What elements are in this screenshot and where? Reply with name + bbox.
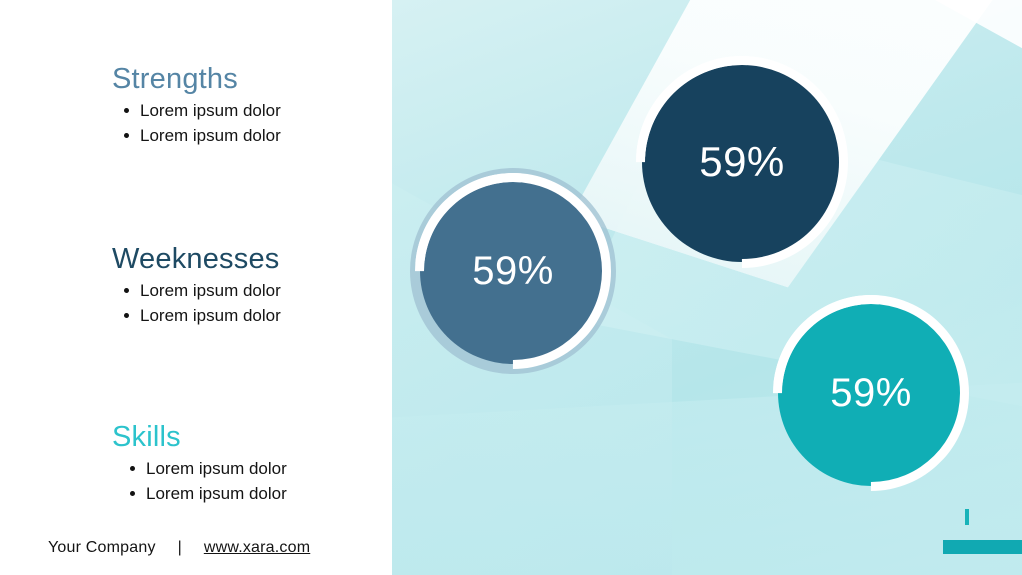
section-skills: Skills Lorem ipsum dolor Lorem ipsum dol… xyxy=(0,422,392,506)
section-weaknesses: Weeknesses Lorem ipsum dolor Lorem ipsum… xyxy=(0,244,392,328)
left-content-panel: Strengths Lorem ipsum dolor Lorem ipsum … xyxy=(0,0,392,575)
section-strengths: Strengths Lorem ipsum dolor Lorem ipsum … xyxy=(0,64,392,148)
gauge-chart-navy: 59% xyxy=(642,62,842,262)
list-item: Lorem ipsum dolor xyxy=(122,123,392,148)
company-name: Your Company xyxy=(48,539,156,557)
section-title-strengths: Strengths xyxy=(0,64,392,96)
list-item: Lorem ipsum dolor xyxy=(122,278,392,303)
slide-footer: Your Company | www.xara.com xyxy=(48,539,310,557)
gauge-chart-steel: 59% xyxy=(420,178,606,364)
gauge-value-steel: 59% xyxy=(420,178,606,364)
list-item: Lorem ipsum dolor xyxy=(128,481,392,506)
list-item: Lorem ipsum dolor xyxy=(122,303,392,328)
bullet-list-skills: Lorem ipsum dolor Lorem ipsum dolor xyxy=(0,456,392,506)
accent-bar xyxy=(943,540,1022,554)
footer-divider: | xyxy=(178,539,182,557)
right-graphic-panel: 59% 59% 59% xyxy=(392,0,1022,575)
accent-tick-mark xyxy=(965,509,969,525)
website-link[interactable]: www.xara.com xyxy=(204,539,310,557)
gauge-value-navy: 59% xyxy=(642,62,842,262)
presentation-slide: Strengths Lorem ipsum dolor Lorem ipsum … xyxy=(0,0,1022,575)
bullet-list-weaknesses: Lorem ipsum dolor Lorem ipsum dolor xyxy=(0,278,392,328)
section-title-skills: Skills xyxy=(0,422,392,454)
gauge-chart-teal: 59% xyxy=(778,300,964,486)
section-title-weaknesses: Weeknesses xyxy=(0,244,392,276)
list-item: Lorem ipsum dolor xyxy=(128,456,392,481)
gauge-value-teal: 59% xyxy=(778,300,964,486)
bullet-list-strengths: Lorem ipsum dolor Lorem ipsum dolor xyxy=(0,98,392,148)
list-item: Lorem ipsum dolor xyxy=(122,98,392,123)
